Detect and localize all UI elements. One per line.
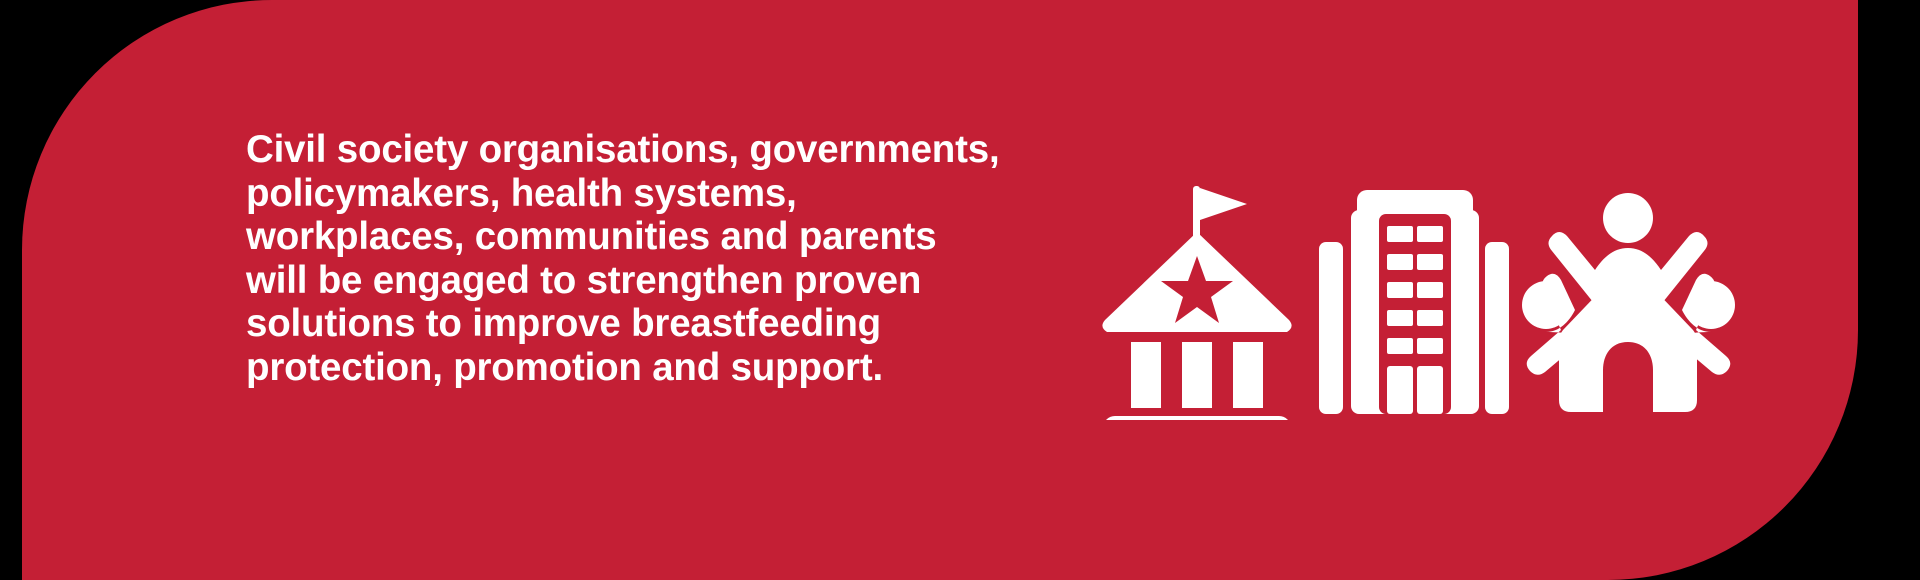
icon-row — [1097, 180, 1777, 420]
banner-text-line-4: will be engaged to strengthen proven — [246, 259, 1106, 303]
banner-canvas: Civil society organisations, governments… — [0, 0, 1920, 580]
city-buildings-icon — [1319, 180, 1509, 425]
banner-text-line-2: policymakers, health systems, — [246, 172, 1106, 216]
red-banner-panel: Civil society organisations, governments… — [22, 0, 1858, 580]
family-community-icon — [1521, 180, 1736, 425]
banner-text-block: Civil society organisations, governments… — [246, 128, 1106, 389]
banner-text-line-1: Civil society organisations, governments… — [246, 128, 1106, 172]
banner-text-line-5: solutions to improve breastfeeding — [246, 302, 1106, 346]
banner-text-line-6: protection, promotion and support. — [246, 346, 1106, 390]
banner-text-line-3: workplaces, communities and parents — [246, 215, 1106, 259]
government-building-icon — [1097, 180, 1297, 425]
